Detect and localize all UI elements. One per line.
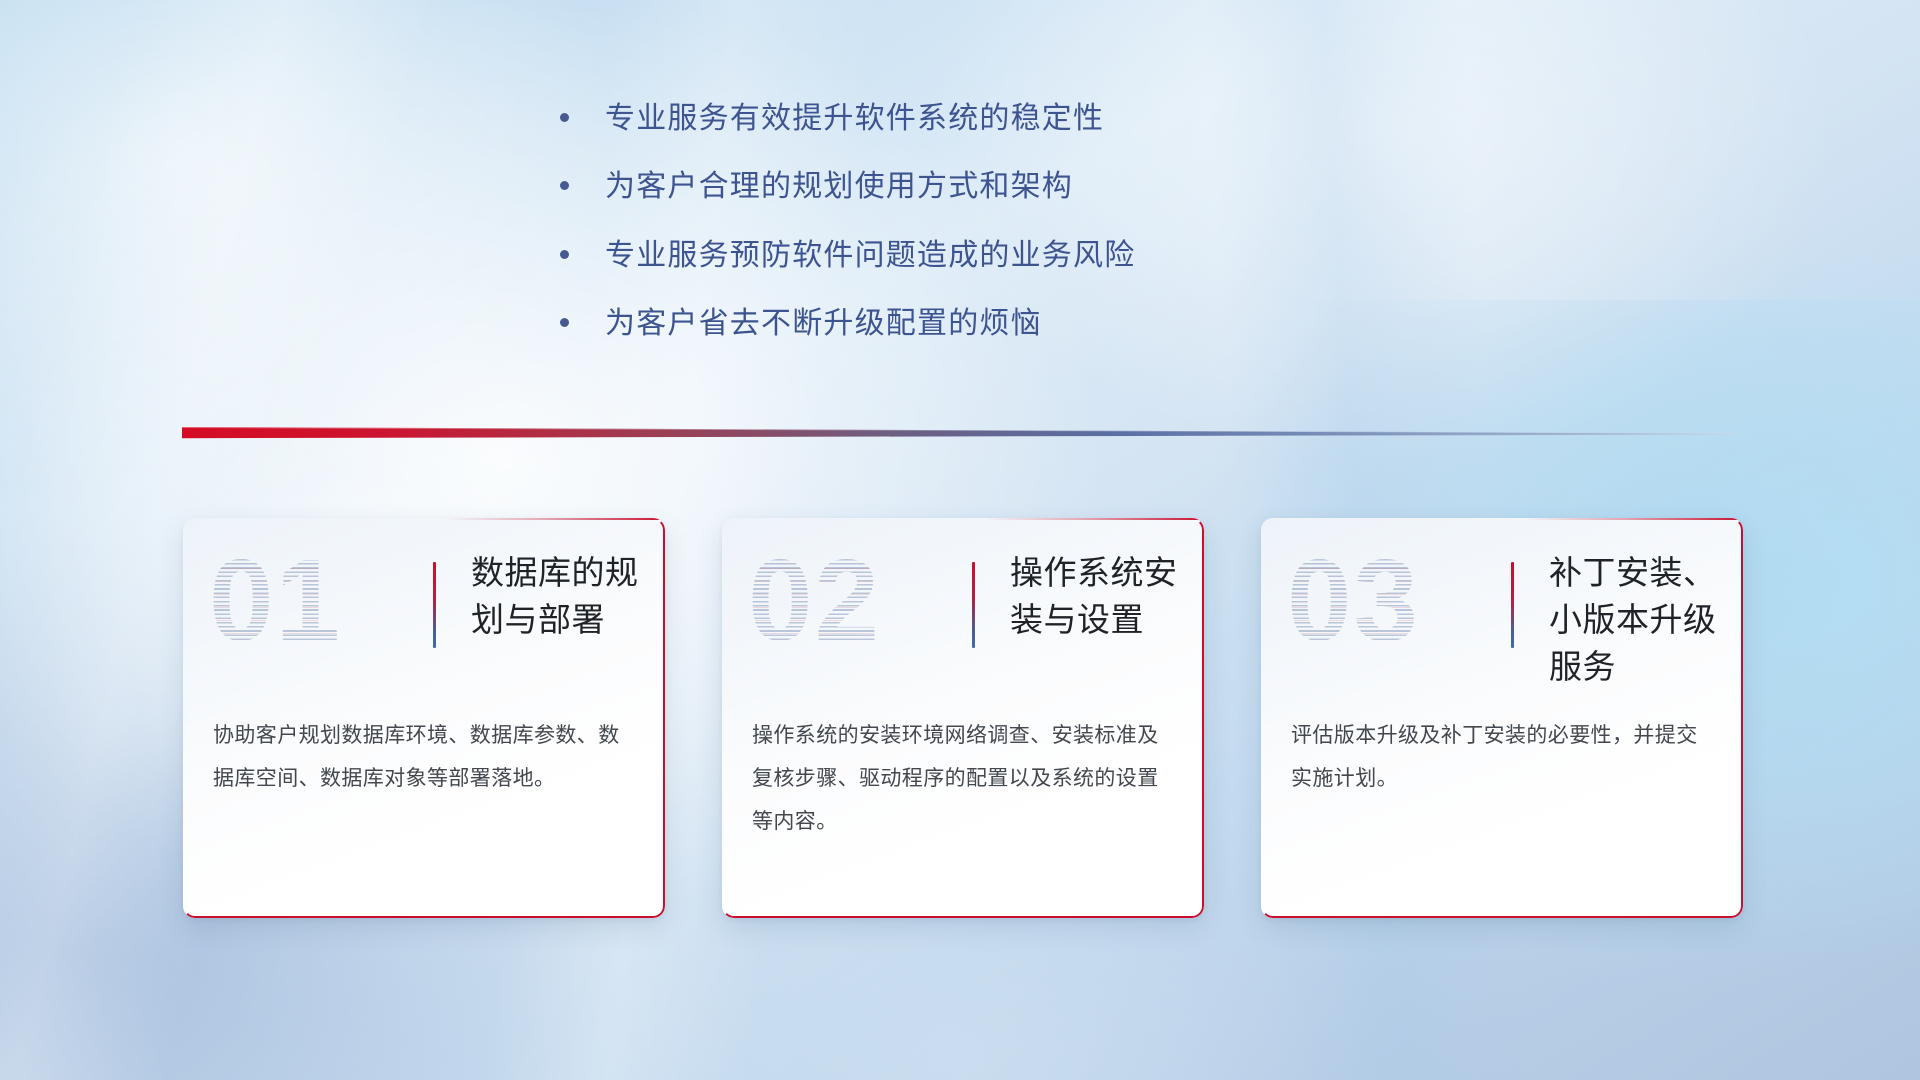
card-header: 03 03 补丁安装、小版本升级服务 [1261,518,1743,696]
card-title: 数据库的规划与部署 [471,550,651,644]
card-body-text: 协助客户规划数据库环境、数据库参数、数据库空间、数据库对象等部署落地。 [213,714,633,800]
service-card-02[interactable]: 02 02 操作系统安装与设置 操作系统的安装环境网络调查、安装标准及复核步骤、… [722,518,1204,918]
list-item: 专业服务预防软件问题造成的业务风险 [560,237,1460,275]
background-glow-top-left [0,0,640,530]
service-card-03[interactable]: 03 03 补丁安装、小版本升级服务 评估版本升级及补丁安装的必要性，并提交实施… [1261,518,1743,918]
list-item: 为客户合理的规划使用方式和架构 [560,168,1460,206]
card-title-accent-bar [433,562,436,648]
bullet-text: 为客户合理的规划使用方式和架构 [605,168,1073,206]
list-item: 专业服务有效提升软件系统的稳定性 [560,100,1460,138]
card-row: 01 01 数据库的规划与部署 协助客户规划数据库环境、数据库参数、数据库空间、… [183,518,1743,918]
card-title: 操作系统安装与设置 [1010,550,1190,644]
bullet-text: 为客户省去不断升级配置的烦恼 [605,305,1042,343]
card-header: 02 02 操作系统安装与设置 [722,518,1204,696]
card-watermark-number-tint: 03 [1287,542,1420,658]
list-item: 为客户省去不断升级配置的烦恼 [560,305,1460,343]
card-title-accent-bar [972,562,975,648]
service-card-01[interactable]: 01 01 数据库的规划与部署 协助客户规划数据库环境、数据库参数、数据库空间、… [183,518,665,918]
card-title-accent-bar [1511,562,1514,648]
bullet-dot-icon [560,181,569,190]
bullet-text: 专业服务预防软件问题造成的业务风险 [605,237,1135,275]
card-watermark-number-tint: 01 [209,542,342,658]
card-body-text: 操作系统的安装环境网络调查、安装标准及复核步骤、驱动程序的配置以及系统的设置等内… [752,714,1172,843]
bullet-dot-icon [560,113,569,122]
section-divider [182,424,1738,442]
card-watermark-number-tint: 02 [748,542,881,658]
card-header: 01 01 数据库的规划与部署 [183,518,665,696]
card-body-text: 评估版本升级及补丁安装的必要性，并提交实施计划。 [1291,714,1711,800]
bullet-dot-icon [560,250,569,259]
slide-root: 专业服务有效提升软件系统的稳定性 为客户合理的规划使用方式和架构 专业服务预防软… [0,0,1920,1080]
card-title: 补丁安装、小版本升级服务 [1549,550,1729,691]
bullet-text: 专业服务有效提升软件系统的稳定性 [605,100,1104,138]
bullet-list: 专业服务有效提升软件系统的稳定性 为客户合理的规划使用方式和架构 专业服务预防软… [560,100,1460,374]
bullet-dot-icon [560,318,569,327]
